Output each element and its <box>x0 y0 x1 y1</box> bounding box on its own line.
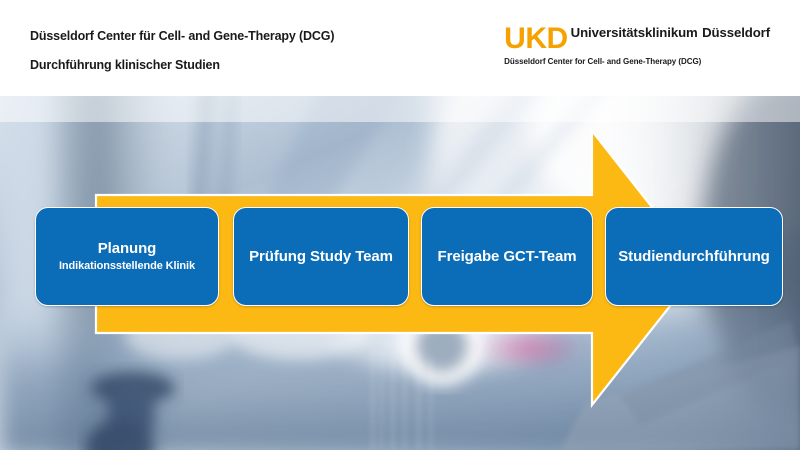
ukd-wordmark: UKD <box>504 24 568 54</box>
process-step-freigabe-gct-team[interactable]: Freigabe GCT-Team <box>421 207 593 306</box>
logo-line-universitaetsklinikum: Universitätsklinikum <box>571 25 698 40</box>
logo-top-row: UKD Universitätsklinikum Düsseldorf <box>504 24 770 54</box>
header-bar: Düsseldorf Center für Cell- and Gene-The… <box>0 0 800 96</box>
process-step-title: Prüfung Study Team <box>249 248 393 266</box>
ukd-logo: UKD Universitätsklinikum Düsseldorf Düss… <box>504 24 770 66</box>
process-step-title: Studiendurchführung <box>618 248 769 266</box>
header-titles: Düsseldorf Center für Cell- and Gene-The… <box>30 29 334 73</box>
process-step-title: Planung <box>98 240 156 258</box>
logo-wordmark-text: Universitätsklinikum Düsseldorf <box>571 24 770 42</box>
slide: Planung Indikationsstellende Klinik Prüf… <box>0 0 800 450</box>
logo-line-duesseldorf: Düsseldorf <box>702 25 770 40</box>
page-title: Düsseldorf Center für Cell- and Gene-The… <box>30 29 334 44</box>
process-step-pruefung-study-team[interactable]: Prüfung Study Team <box>233 207 409 306</box>
logo-subtitle: Düsseldorf Center for Cell- and Gene-The… <box>504 57 770 66</box>
process-step-studiendurchfuehrung[interactable]: Studiendurchführung <box>605 207 783 306</box>
process-step-subtitle: Indikationsstellende Klinik <box>59 259 195 273</box>
process-step-title: Freigabe GCT-Team <box>438 248 577 266</box>
process-step-planung[interactable]: Planung Indikationsstellende Klinik <box>35 207 219 306</box>
page-subtitle: Durchführung klinischer Studien <box>30 58 334 73</box>
